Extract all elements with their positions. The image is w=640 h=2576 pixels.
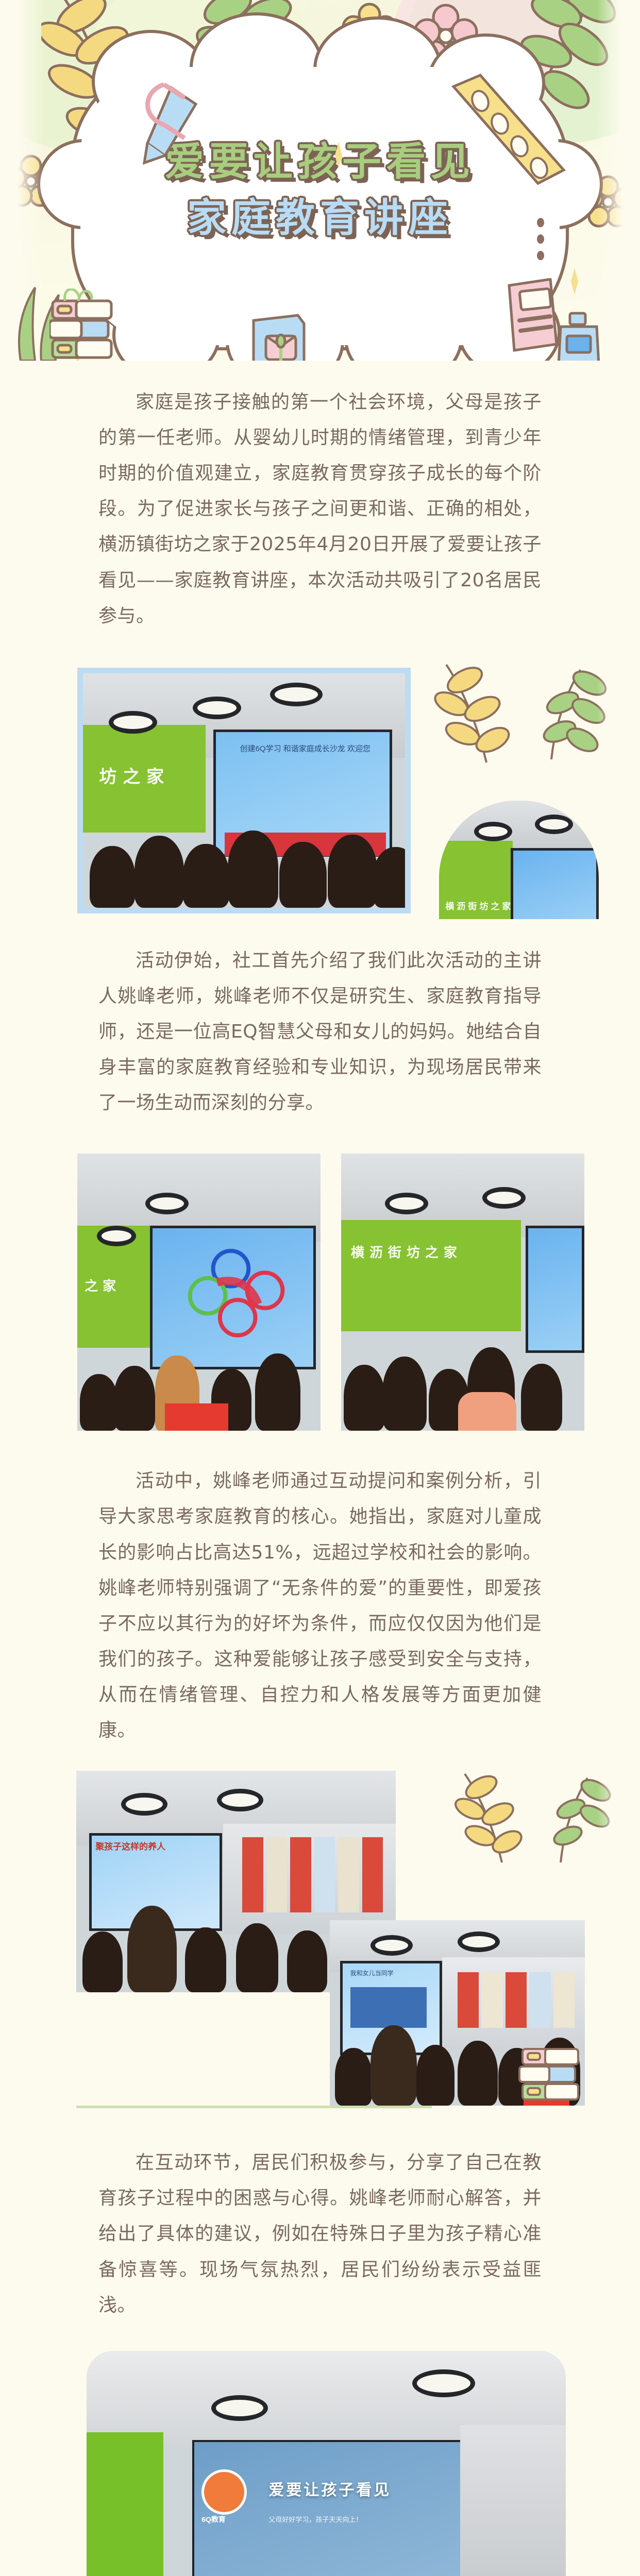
leaf-branch-yellow-small-icon bbox=[433, 662, 520, 770]
right-edge-fade bbox=[597, 0, 640, 2576]
paragraph-2: 活动伊始，社工首先介绍了我们此次活动的主讲人姚峰老师，姚峰老师不仅是研究生、家庭… bbox=[98, 943, 542, 1121]
paragraph-block-4: 在互动环节，居民们积极参与，分享了自己在教育孩子过程中的困惑与心得。姚峰老师耐心… bbox=[0, 2121, 640, 2341]
photo-group-2: 之家 横沥街坊之家 bbox=[0, 1138, 640, 1439]
paragraph-block-1: 家庭是孩子接触的第一个社会环境，父母是孩子的第一任老师。从婴幼儿时期的情绪管理，… bbox=[0, 361, 640, 651]
wall-text: 坊之家 bbox=[99, 762, 170, 788]
photo-group-photo: 爱要让孩子看见 父母好好学习，孩子天天向上！ 6Q教育 bbox=[87, 2351, 566, 2576]
title-line-2: 家庭教育讲座 bbox=[0, 194, 640, 242]
section-divider bbox=[76, 2106, 432, 2108]
poster-header: 爱要让孩子看见 家庭教育讲座 bbox=[0, 0, 640, 361]
photo-group-4: 爱要让孩子看见 父母好好学习，孩子天天向上！ 6Q教育 bbox=[0, 2341, 640, 2576]
leaf-branch-yellow-small-icon bbox=[453, 1771, 531, 1869]
title-line-1: 爱要让孩子看见 bbox=[0, 138, 640, 186]
audience-crowd bbox=[83, 814, 405, 908]
photo-lecture-wide-shot: 创建6Q学习 和谐家庭成长沙龙 欢迎您 坊之家 bbox=[77, 668, 411, 913]
wall-text: 横沥街坊之家 bbox=[351, 1242, 462, 1261]
sparkle-icon bbox=[330, 142, 347, 168]
photo-group-3: 聚孩子这样的养人 bbox=[0, 1766, 640, 2121]
paragraph-block-3: 活动中，姚峰老师通过互动提问和案例分析，引导大家思考家庭教育的核心。她指出，家庭… bbox=[0, 1439, 640, 1766]
sparkle-icon bbox=[68, 335, 88, 361]
left-edge-fade bbox=[0, 0, 43, 2576]
wall-text: 之家 bbox=[85, 1276, 121, 1295]
photo-venue-arch-shot: 横沥街坊之家 bbox=[439, 801, 599, 919]
wall-text: 横沥街坊之家 bbox=[445, 899, 513, 912]
screen-caption: 创建6Q学习 和谐家庭成长沙龙 欢迎您 bbox=[231, 743, 380, 772]
article-body: 家庭是孩子接触的第一个社会环境，父母是孩子的第一任老师。从婴幼儿时期的情绪管理，… bbox=[0, 361, 640, 2576]
slide-title: 我和女儿当同学 bbox=[350, 1969, 432, 1977]
photo-speaker-audience-shot: 横沥街坊之家 bbox=[341, 1154, 584, 1431]
paragraph-1: 家庭是孩子接触的第一个社会环境，父母是孩子的第一任老师。从婴幼儿时期的情绪管理，… bbox=[98, 384, 542, 634]
slide-title: 聚孩子这样的养人 bbox=[95, 1839, 210, 1852]
sparkle-icon bbox=[566, 268, 583, 295]
paragraph-3: 活动中，姚峰老师通过互动提问和案例分析，引导大家思考家庭教育的核心。她指出，家庭… bbox=[98, 1463, 542, 1748]
poster-title: 爱要让孩子看见 家庭教育讲座 bbox=[0, 138, 640, 242]
paragraph-4: 在互动环节，居民们积极参与，分享了自己在教育孩子过程中的困惑与心得。姚峰老师耐心… bbox=[98, 2145, 542, 2323]
poster-page: 爱要让孩子看见 家庭教育讲座 bbox=[0, 0, 640, 2576]
photo-slide-circles-shot: 之家 bbox=[77, 1154, 321, 1431]
paragraph-block-2: 活动伊始，社工首先介绍了我们此次活动的主讲人姚峰老师，姚峰老师不仅是研究生、家庭… bbox=[0, 919, 640, 1139]
screen-title: 爱要让孩子看见 bbox=[268, 2477, 391, 2500]
photo-slide-daughter-classmate-shot: 我和女儿当同学 bbox=[330, 1920, 585, 2106]
photo-group-1: 创建6Q学习 和谐家庭成长沙龙 欢迎您 坊之家 bbox=[0, 651, 640, 919]
